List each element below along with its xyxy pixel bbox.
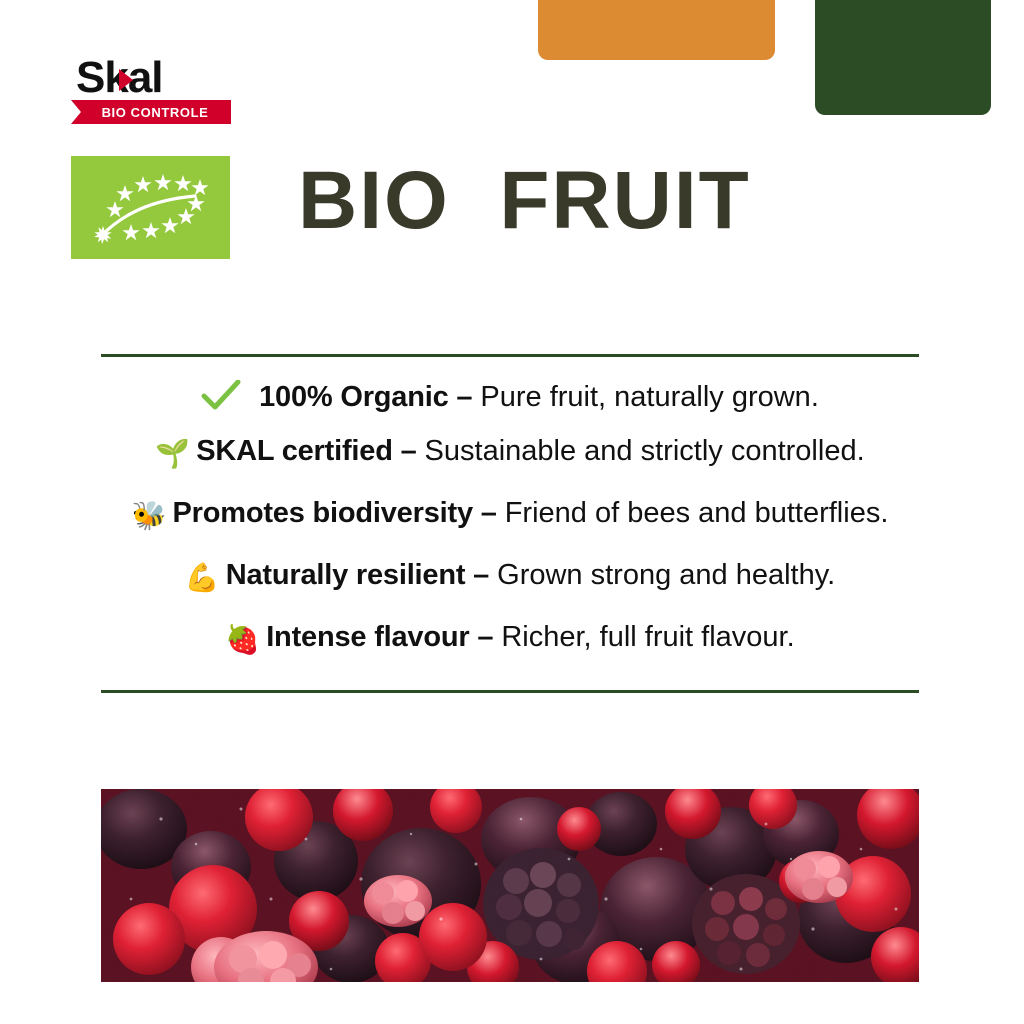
skal-k-accent-icon xyxy=(119,69,133,91)
benefit-bold-skal: SKAL certified – xyxy=(196,435,416,467)
benefit-item-resilient: 💪 Naturally resilient – Grown strong and… xyxy=(101,560,919,622)
flexed-biceps-icon: 💪 xyxy=(185,564,220,592)
bio-controle-ribbon: BIO CONTROLE xyxy=(71,100,231,124)
benefit-text-biodiversity: Promotes biodiversity – Friend of bees a… xyxy=(172,498,888,530)
benefit-bold-biodiversity: Promotes biodiversity – xyxy=(172,497,496,529)
seedling-icon: 🌱 xyxy=(155,440,190,468)
benefit-rest-skal: Sustainable and strictly controlled. xyxy=(417,435,865,467)
strawberry-icon: 🍓 xyxy=(225,626,260,654)
benefits-list: 100% Organic – Pure fruit, naturally gro… xyxy=(101,374,919,684)
benefit-text-resilient: Naturally resilient – Grown strong and h… xyxy=(226,560,835,592)
benefit-rest-organic: Pure fruit, naturally grown. xyxy=(472,381,819,413)
benefit-rest-resilient: Grown strong and healthy. xyxy=(489,559,835,591)
check-mark-icon xyxy=(201,380,241,412)
benefit-item-flavour: 🍓 Intense flavour – Richer, full fruit f… xyxy=(101,622,919,684)
skal-wordmark: Skal xyxy=(71,56,231,106)
benefit-bold-organic: 100% Organic – xyxy=(259,381,472,413)
certification-logo-group: Skal BIO CONTROLE xyxy=(71,56,231,106)
bio-controle-ribbon-label: BIO CONTROLE xyxy=(102,105,209,120)
orange-rounded-block xyxy=(538,0,775,60)
benefit-rest-flavour: Richer, full fruit flavour. xyxy=(493,621,794,653)
bee-icon: 🐝 xyxy=(132,502,167,530)
benefit-bold-resilient: Naturally resilient – xyxy=(226,559,489,591)
benefit-text-skal: SKAL certified – Sustainable and strictl… xyxy=(196,436,864,468)
divider-top xyxy=(101,354,919,357)
benefit-item-skal: 🌱 SKAL certified – Sustainable and stric… xyxy=(101,436,919,498)
mixed-frozen-berries-photo xyxy=(101,789,919,982)
page-title: BIO FRUIT xyxy=(298,160,751,242)
green-rounded-block xyxy=(815,0,991,115)
divider-bottom xyxy=(101,690,919,693)
benefit-text-organic: 100% Organic – Pure fruit, naturally gro… xyxy=(259,382,819,414)
benefit-rest-biodiversity: Friend of bees and butterflies. xyxy=(497,497,889,529)
benefit-bold-flavour: Intense flavour – xyxy=(266,621,493,653)
benefit-item-organic: 100% Organic – Pure fruit, naturally gro… xyxy=(101,374,919,436)
benefit-item-biodiversity: 🐝 Promotes biodiversity – Friend of bees… xyxy=(101,498,919,560)
eu-organic-leaf-logo xyxy=(71,156,230,259)
benefit-text-flavour: Intense flavour – Richer, full fruit fla… xyxy=(266,622,794,654)
